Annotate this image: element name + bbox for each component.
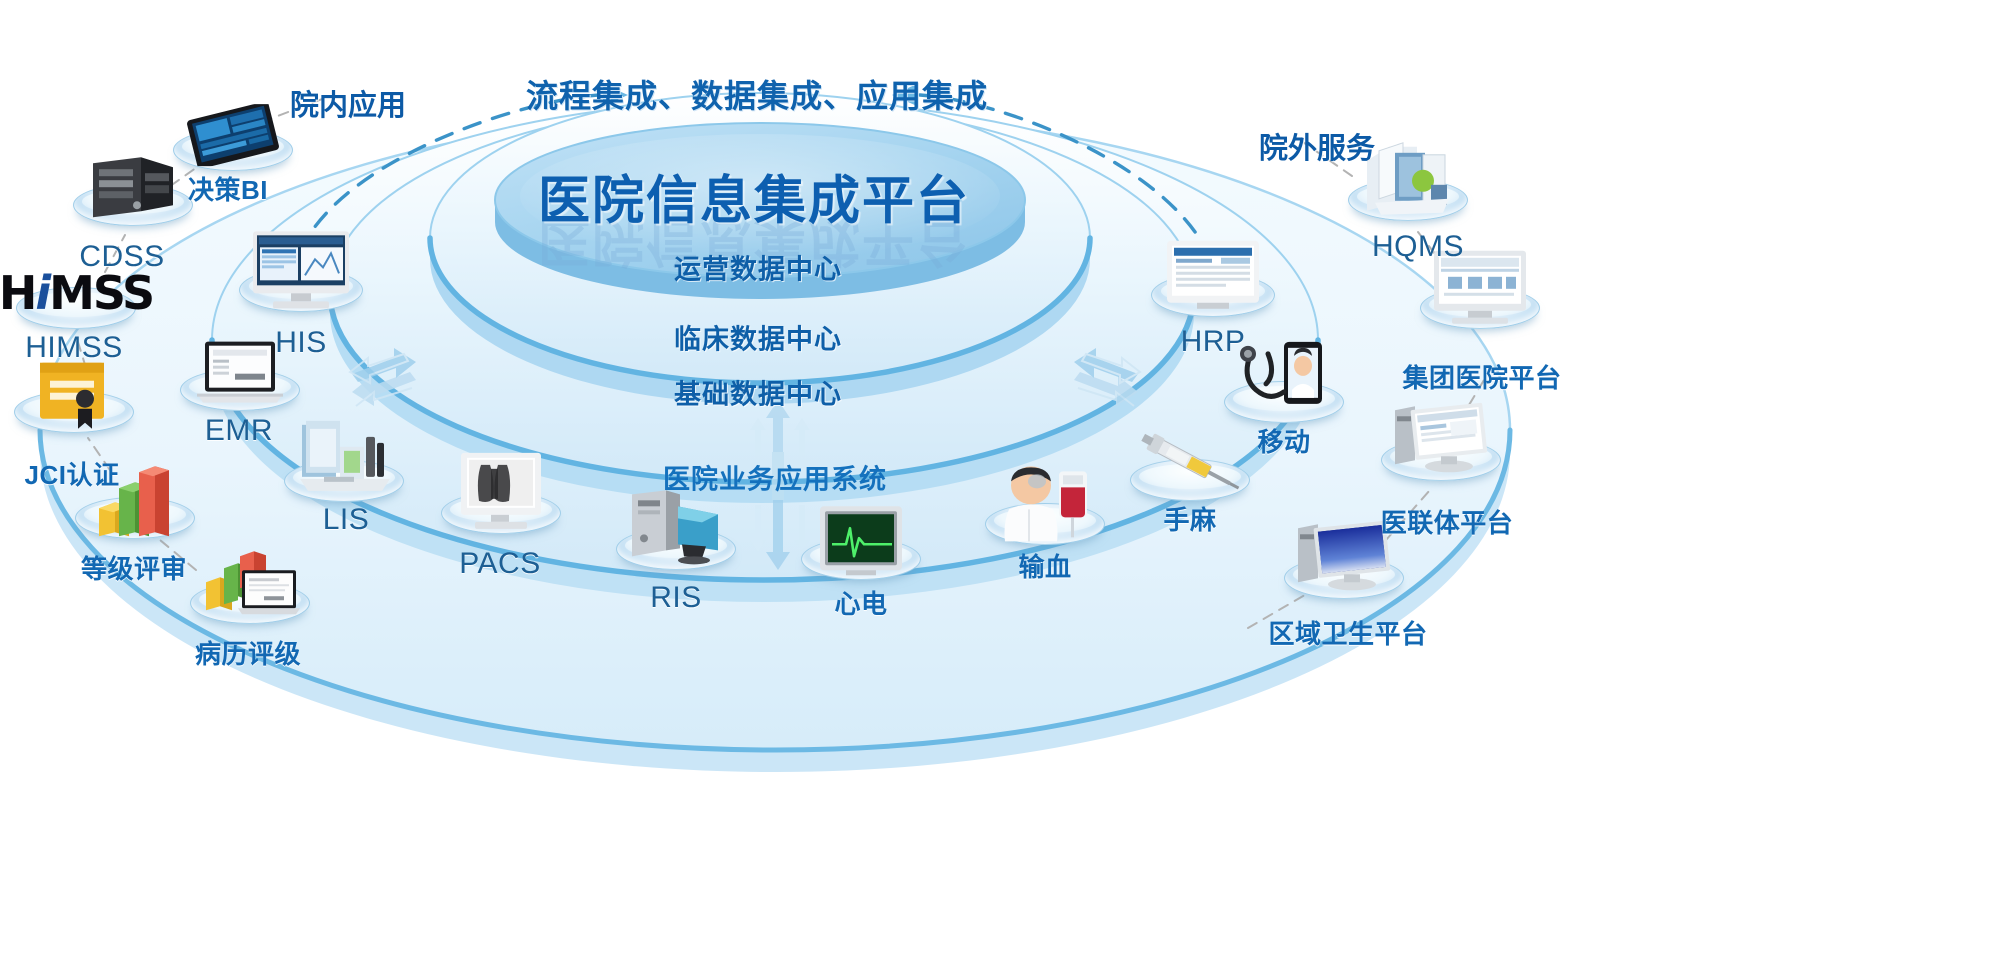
ring-label-foundation: 基础数据中心 [674, 373, 842, 412]
node-label-jituan: 集团医院平台 [1402, 358, 1561, 395]
platform-title: 医院信息集成平台 [538, 159, 970, 234]
node-label-xindian: 心电 [834, 584, 887, 621]
xray-monitor-icon [455, 451, 547, 535]
node-jituan[interactable] [1421, 288, 1539, 328]
section-header-left: 院内应用 [290, 82, 406, 124]
node-label-quyu: 区域卫生平台 [1268, 614, 1427, 651]
node-label-himss: HIMSS [25, 331, 123, 365]
node-ris[interactable] [617, 529, 735, 569]
node-binglipj[interactable] [191, 583, 309, 623]
node-label-emr: EMR [205, 414, 273, 448]
node-label-yidong: 移动 [1257, 422, 1310, 459]
mobile-stethoscope-icon [1232, 340, 1336, 424]
ecg-monitor-icon [816, 504, 906, 578]
node-cdss[interactable] [74, 185, 192, 225]
node-label-binglipj: 病历评级 [195, 634, 301, 671]
node-dengji[interactable] [76, 498, 194, 538]
node-his[interactable] [240, 269, 362, 311]
lab-analyzer-icon [294, 419, 394, 503]
node-label-his: HIS [275, 326, 327, 360]
blood-transfusion-icon [993, 463, 1097, 545]
node-label-dengji: 等级评审 [81, 549, 187, 586]
node-label-jcebi: 决策BI [188, 170, 268, 207]
node-himss[interactable]: HiMSS [17, 288, 135, 328]
node-label-pacs: PACS [459, 547, 540, 581]
integration-banner: 流程集成、数据集成、应用集成 [526, 71, 988, 117]
desktop-monitor-icon [249, 229, 353, 311]
node-label-hrp: HRP [1181, 325, 1246, 359]
node-label-ris: RIS [650, 581, 702, 615]
monitor-pc-icon [1389, 402, 1493, 480]
node-jcebi[interactable] [174, 130, 292, 170]
node-lis[interactable] [285, 461, 403, 501]
ring-label-clinical: 临床数据中心 [674, 318, 842, 357]
folders-icon [1357, 141, 1459, 221]
node-label-jci: JCI认证 [25, 455, 120, 492]
node-xindian[interactable] [802, 539, 920, 579]
node-shuxue[interactable] [986, 504, 1104, 544]
node-hqms[interactable] [1349, 180, 1467, 220]
ring-label-operational: 运营数据中心 [674, 248, 842, 287]
pc-tower-icon [622, 488, 730, 570]
certificate-icon [32, 359, 116, 431]
node-jci[interactable] [15, 392, 133, 432]
node-label-yilianti: 医联体平台 [1381, 503, 1514, 540]
tablet-report-icon [1163, 239, 1263, 315]
chart-laptop-icon [198, 548, 302, 622]
node-pacs[interactable] [442, 493, 560, 533]
node-hrp[interactable] [1152, 274, 1274, 316]
node-label-lis: LIS [323, 503, 370, 537]
node-quyu[interactable] [1285, 558, 1403, 598]
node-shouma[interactable] [1131, 460, 1249, 500]
node-label-shuxue: 输血 [1018, 547, 1071, 584]
node-label-cdss: CDSS [79, 240, 164, 274]
node-label-hqms: HQMS [1372, 230, 1464, 264]
node-yidong[interactable] [1225, 382, 1343, 422]
node-yilianti[interactable] [1382, 440, 1500, 480]
syringe-icon [1135, 425, 1245, 499]
tablet-dashboard-icon [187, 104, 279, 166]
diagram-canvas: 院内应用 院外服务 流程集成、数据集成、应用集成 医院信息集成平台 医院信息集成… [0, 0, 2000, 955]
node-label-shouma: 手麻 [1163, 500, 1216, 537]
server-rack-icon [87, 153, 179, 223]
node-emr[interactable] [181, 370, 299, 410]
